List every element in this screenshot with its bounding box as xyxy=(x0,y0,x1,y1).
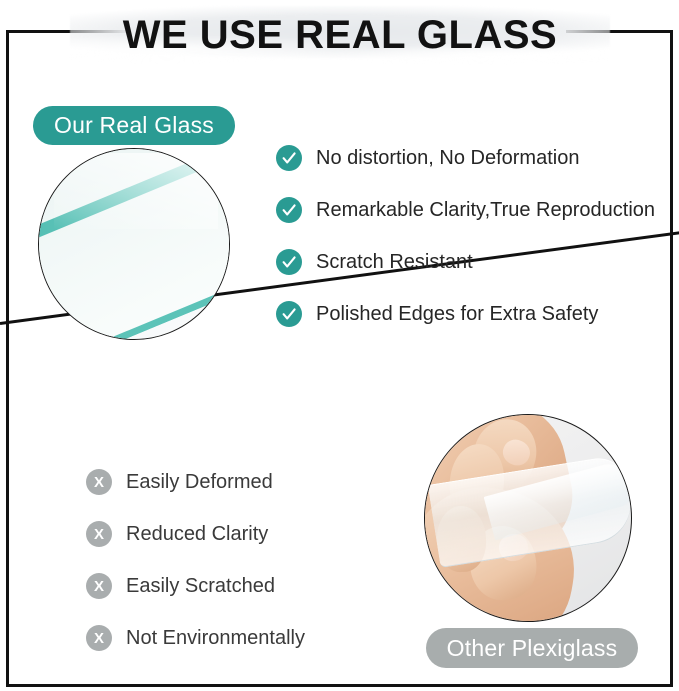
list-item: Remarkable Clarity,True Reproduction xyxy=(276,184,655,236)
list-item-label: Reduced Clarity xyxy=(126,523,268,546)
frame-right-border xyxy=(670,30,673,687)
x-icon-glyph: X xyxy=(94,579,104,594)
real-glass-corner-photo xyxy=(38,148,230,340)
x-icon: X xyxy=(86,521,112,547)
list-item: Polished Edges for Extra Safety xyxy=(276,288,655,340)
x-icon: X xyxy=(86,573,112,599)
list-item: No distortion, No Deformation xyxy=(276,132,655,184)
x-icon: X xyxy=(86,625,112,651)
frame-bottom-border xyxy=(6,684,673,687)
frame-left-border xyxy=(6,30,9,687)
list-item-label: No distortion, No Deformation xyxy=(316,147,579,170)
comparison-infographic: WE USE REAL GLASS Our Real Glass No dist… xyxy=(0,0,679,691)
title-text: WE USE REAL GLASS xyxy=(70,4,610,66)
list-item: Scratch Resistant xyxy=(276,236,655,288)
x-icon-glyph: X xyxy=(94,527,104,542)
list-item-label: Easily Deformed xyxy=(126,471,273,494)
badge-our-real-glass-label: Our Real Glass xyxy=(54,112,214,139)
list-item: X Easily Deformed xyxy=(86,456,305,508)
badge-other-plexiglass: Other Plexiglass xyxy=(426,628,638,668)
page-title: WE USE REAL GLASS xyxy=(70,4,610,66)
check-icon xyxy=(276,301,302,327)
list-item-label: Remarkable Clarity,True Reproduction xyxy=(316,199,655,222)
list-item: X Not Environmentally xyxy=(86,612,305,664)
glass-gloss-highlight xyxy=(54,153,217,229)
x-icon-glyph: X xyxy=(94,475,104,490)
x-icon: X xyxy=(86,469,112,495)
list-item-label: Not Environmentally xyxy=(126,627,305,650)
x-icon-glyph: X xyxy=(94,631,104,646)
plexiglass-drawback-list: X Easily Deformed X Reduced Clarity X Ea… xyxy=(86,456,305,664)
list-item: X Easily Scratched xyxy=(86,560,305,612)
badge-our-real-glass: Our Real Glass xyxy=(33,106,235,145)
list-item-label: Scratch Resistant xyxy=(316,251,473,274)
check-icon xyxy=(276,197,302,223)
check-icon xyxy=(276,249,302,275)
real-glass-feature-list: No distortion, No Deformation Remarkable… xyxy=(276,132,655,340)
list-item-label: Easily Scratched xyxy=(126,575,275,598)
badge-other-plexiglass-label: Other Plexiglass xyxy=(447,635,618,662)
list-item: X Reduced Clarity xyxy=(86,508,305,560)
list-item-label: Polished Edges for Extra Safety xyxy=(316,303,598,326)
hands-bending-plexiglass-photo xyxy=(424,414,632,622)
check-icon xyxy=(276,145,302,171)
